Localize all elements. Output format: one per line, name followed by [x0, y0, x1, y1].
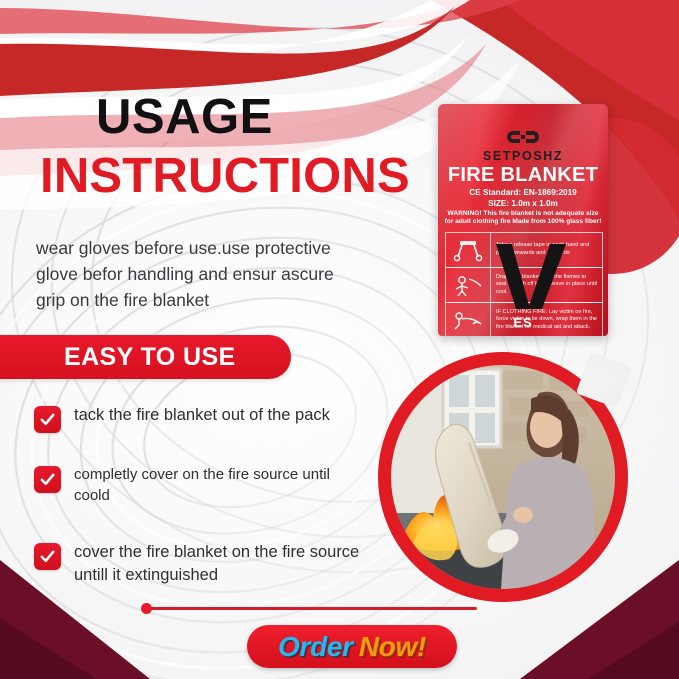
check-icon	[34, 406, 61, 433]
check-icon	[34, 543, 61, 570]
lifestyle-photo	[378, 352, 628, 602]
list-item: cover the fire blanket on the fire sourc…	[34, 541, 364, 588]
divider-dot	[141, 603, 152, 614]
easy-to-use-badge: EASY TO USE	[0, 335, 291, 379]
order-now-button[interactable]: Order Now!	[247, 625, 457, 668]
divider-line	[147, 607, 477, 610]
order-now-word2: Now!	[359, 631, 426, 663]
list-item: tack the fire blanket out of the pack	[34, 404, 354, 433]
list-item-label: cover the fire blanket on the fire sourc…	[74, 541, 364, 588]
body-copy: wear gloves before use.use protective gl…	[36, 236, 366, 314]
poster-canvas: USAGE INSTRUCTIONS wear gloves before us…	[0, 0, 679, 679]
pull-straps-overlay	[438, 104, 608, 336]
list-item-label: tack the fire blanket out of the pack	[74, 404, 330, 427]
easy-to-use-label: EASY TO USE	[64, 343, 236, 372]
page-title-line1: USAGE	[96, 93, 273, 142]
page-title-line2: INSTRUCTIONS	[40, 152, 410, 201]
list-item: completly cover on the fire source until…	[34, 464, 369, 507]
order-now-word1: Order	[278, 631, 353, 663]
check-icon	[34, 466, 61, 493]
product-package-image: SETPOSHZ FIRE BLANKET CE Standard: EN-18…	[438, 104, 608, 336]
list-item-label: completly cover on the fire source until…	[74, 464, 369, 507]
